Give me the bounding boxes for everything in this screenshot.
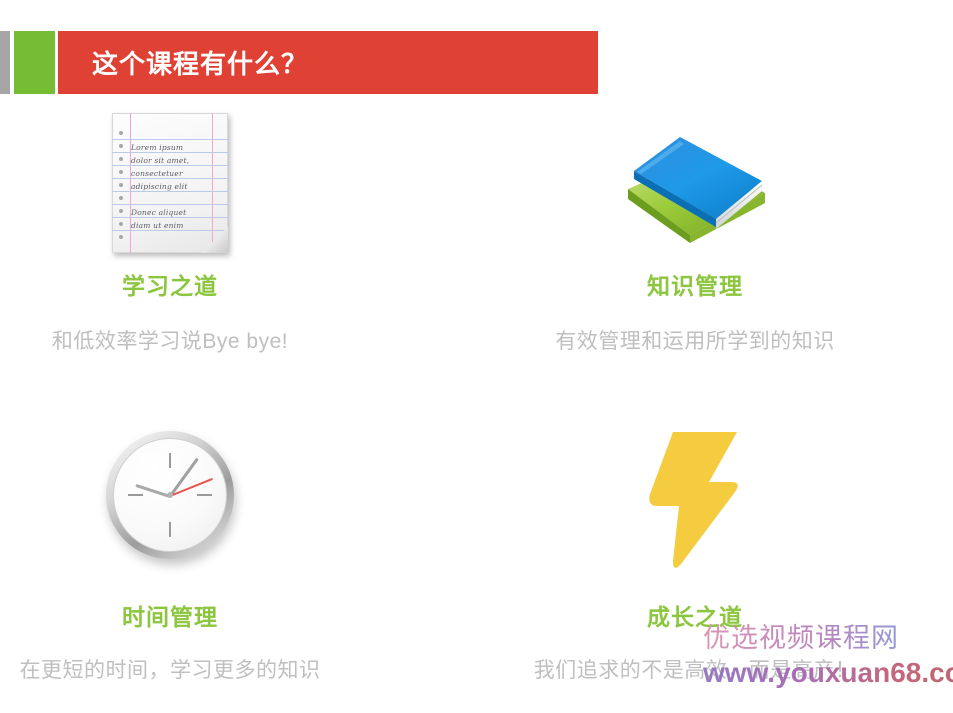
notepad-line: consectetuer: [131, 167, 220, 180]
clock-icon-wrap: [0, 400, 385, 590]
bolt-icon-wrap: [480, 400, 910, 590]
notepad-hole: [119, 170, 123, 174]
notepad-line: Lorem ipsum: [131, 141, 220, 154]
notepad-hole: [119, 222, 123, 226]
notepad-rule: [112, 139, 228, 140]
header-accent-bar-green: [14, 31, 55, 94]
clock-center-pin: [167, 492, 173, 498]
notepad-hole: [119, 183, 123, 187]
feature-caption: 知识管理: [480, 267, 910, 301]
clock-tick: [128, 494, 143, 497]
notepad-hole: [119, 131, 123, 135]
notepad-line: adipiscing elit: [131, 180, 220, 193]
clock-tick: [169, 453, 172, 468]
notepad-hole: [119, 209, 123, 213]
feature-item-growth: 成长之道 我们追求的不是高效，而是高产！: [480, 400, 910, 684]
notepad-line: diam ut enim: [131, 219, 220, 232]
feature-subtitle: 和低效率学习说Bye bye!: [0, 325, 385, 355]
notepad-line: dolor sit amet,: [131, 154, 220, 167]
notepad-icon-wrap: Lorem ipsum dolor sit amet, consectetuer…: [0, 100, 385, 265]
page-title: 这个课程有什么？: [92, 31, 308, 94]
clock-icon: [106, 431, 234, 559]
feature-item-knowledge: 知识管理 有效管理和运用所学到的知识: [480, 100, 910, 355]
header-accent-bar-gray: [0, 31, 10, 94]
notepad-hole: [119, 196, 123, 200]
feature-item-time: 时间管理 在更短的时间，学习更多的知识: [0, 400, 385, 684]
notepad-hole: [119, 235, 123, 239]
feature-caption: 时间管理: [0, 598, 385, 632]
clock-minute-hand: [169, 458, 199, 498]
slide-canvas: 这个课程有什么？: [0, 0, 953, 713]
clock-tick: [197, 494, 212, 497]
feature-caption: 成长之道: [480, 598, 910, 632]
feature-caption: 学习之道: [0, 267, 385, 301]
lightning-bolt-icon: [643, 420, 747, 570]
feature-subtitle: 我们追求的不是高效，而是高产！: [480, 654, 910, 684]
books-icon: [620, 115, 770, 250]
feature-subtitle: 在更短的时间，学习更多的知识: [0, 654, 385, 684]
clock-tick: [169, 522, 172, 537]
notepad-icon: Lorem ipsum dolor sit amet, consectetuer…: [112, 113, 228, 253]
notepad-rule: [112, 204, 228, 205]
feature-subtitle: 有效管理和运用所学到的知识: [480, 325, 910, 355]
books-icon-wrap: [480, 100, 910, 265]
clock-face: [113, 438, 227, 552]
notepad-hole: [119, 144, 123, 148]
notepad-line: Donec aliquet: [131, 206, 220, 219]
feature-item-learning: Lorem ipsum dolor sit amet, consectetuer…: [0, 100, 385, 355]
notepad-hole: [119, 157, 123, 161]
